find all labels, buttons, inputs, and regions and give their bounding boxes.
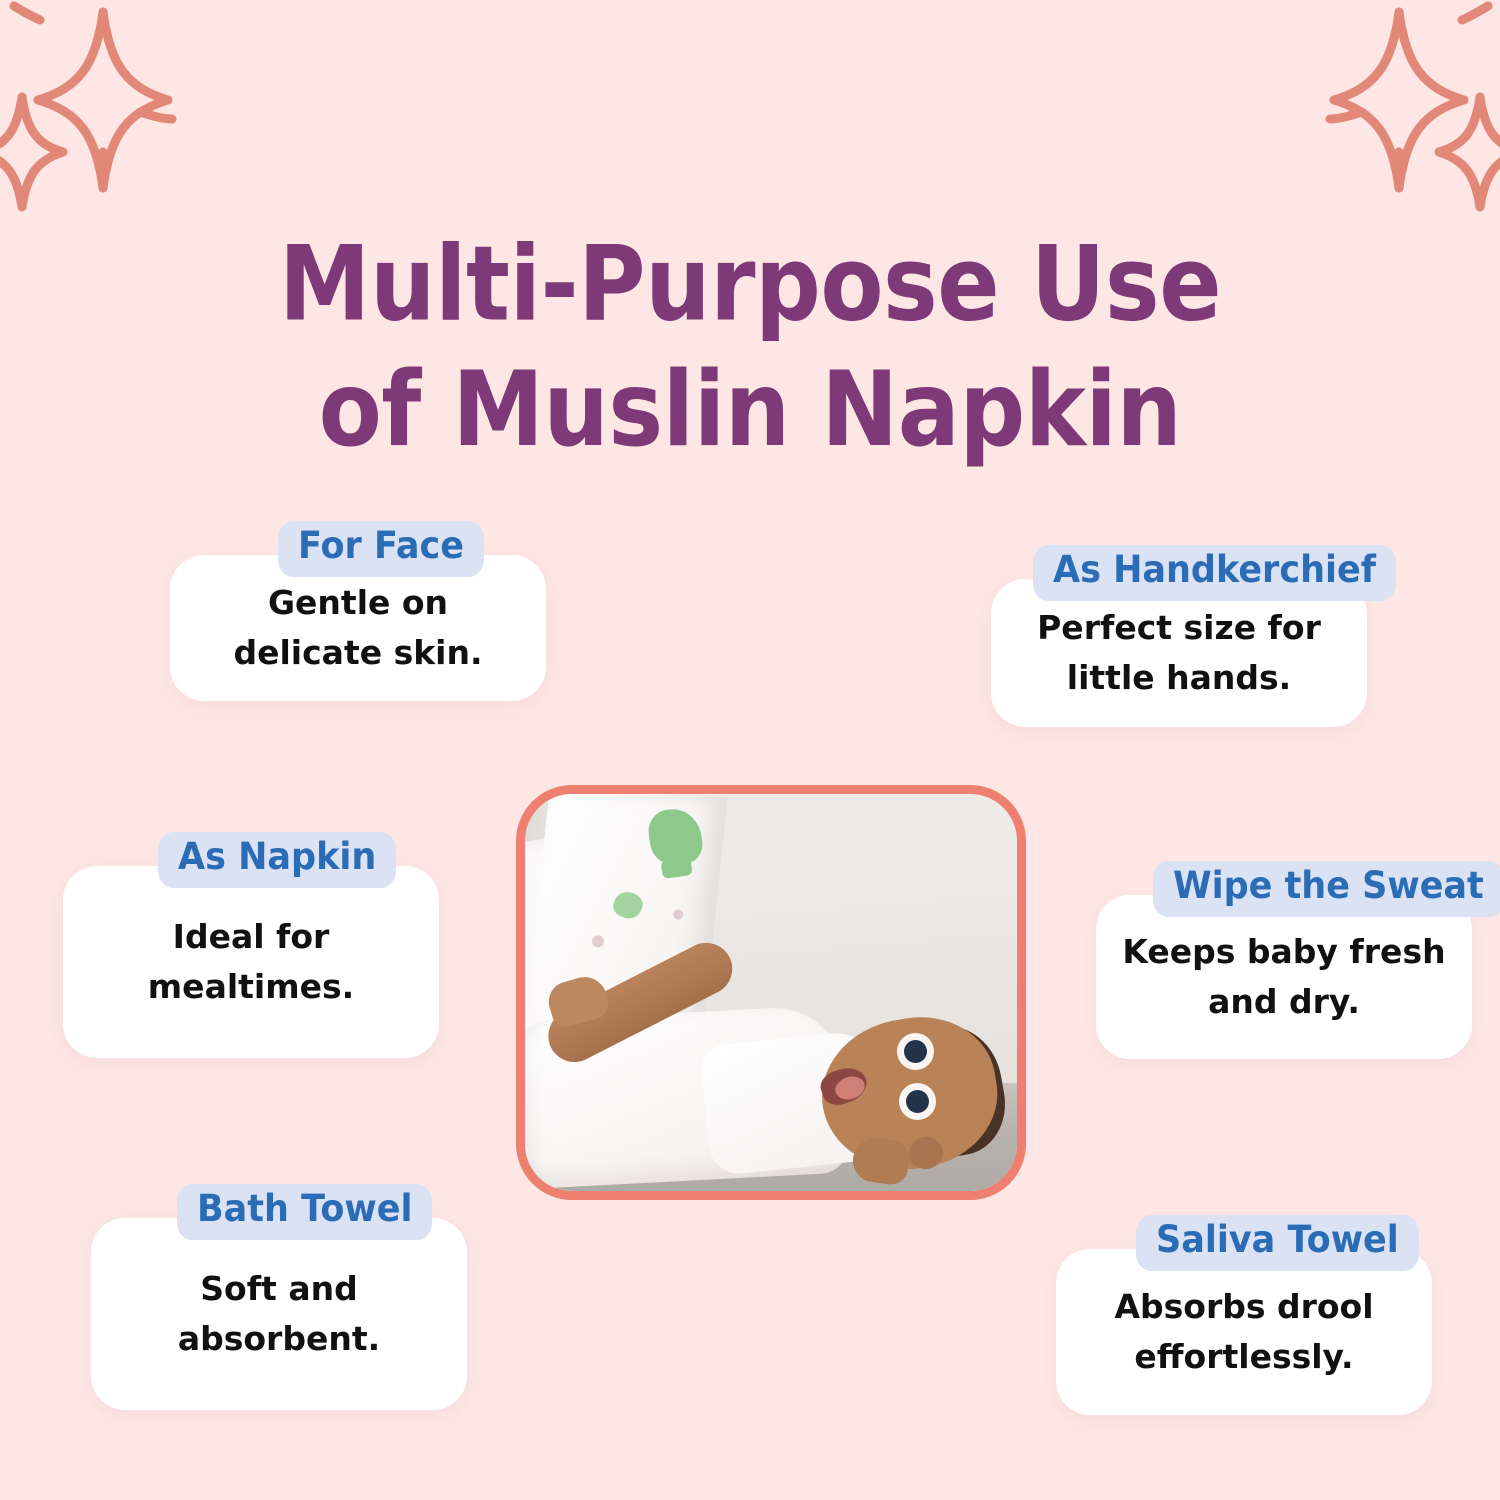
card-text-line-2: mealtimes. — [148, 962, 354, 1012]
feature-card-as-handkerchief: As Handkerchief Perfect size for little … — [991, 545, 1367, 727]
sparkle-stroke-icon — [103, 152, 104, 179]
sparkle-star-icon — [1334, 12, 1464, 188]
card-text-line-1: Absorbs drool — [1114, 1282, 1373, 1332]
sparkle-star-icon — [1439, 97, 1500, 207]
card-text-line-2: delicate skin. — [233, 628, 482, 678]
card-body-as-napkin: Ideal for mealtimes. — [63, 866, 439, 1058]
sparkle-stroke-icon — [1462, 6, 1488, 20]
feature-card-bath-towel: Bath Towel Soft and absorbent. — [91, 1184, 467, 1410]
card-body-as-handkerchief: Perfect size for little hands. — [991, 579, 1367, 727]
product-photo-frame — [516, 785, 1026, 1200]
feature-card-wipe-the-sweat: Wipe the Sweat Keeps baby fresh and dry. — [1096, 861, 1472, 1059]
card-body-wipe-the-sweat: Keeps baby fresh and dry. — [1096, 895, 1472, 1059]
photo-baby-eye — [904, 1040, 927, 1063]
title-line-2: of Muslin Napkin — [0, 347, 1500, 473]
photo-baby-eye — [906, 1090, 929, 1113]
card-text-line-1: Soft and — [200, 1264, 357, 1314]
sparkle-stroke-icon — [1330, 112, 1362, 119]
card-text-line-1: Keeps baby fresh — [1122, 927, 1445, 977]
feature-card-for-face: For Face Gentle on delicate skin. — [170, 521, 546, 701]
card-text-line-1: Ideal for — [173, 912, 330, 962]
card-body-for-face: Gentle on delicate skin. — [170, 555, 546, 701]
card-text-line-2: little hands. — [1067, 653, 1291, 703]
card-text-line-2: effortlessly. — [1134, 1332, 1353, 1382]
title-line-1: Multi-Purpose Use — [0, 222, 1500, 348]
feature-card-saliva-towel: Saliva Towel Absorbs drool effortlessly. — [1056, 1215, 1432, 1415]
card-text-line-1: Perfect size for — [1037, 603, 1321, 653]
sparkle-star-icon — [0, 97, 63, 207]
sparkle-stroke-icon — [14, 6, 40, 20]
infographic-poster: Multi-Purpose Use of Muslin Napkin For F… — [0, 0, 1500, 1500]
photo-print-speck — [591, 935, 604, 948]
sparkle-stroke-icon — [140, 112, 172, 119]
product-photo — [525, 794, 1017, 1191]
page-title: Multi-Purpose Use of Muslin Napkin — [0, 222, 1500, 473]
photo-dinosaur-print-icon — [610, 888, 646, 923]
sparkle-stroke-icon — [1399, 152, 1400, 179]
card-text-line-2: absorbent. — [178, 1314, 380, 1364]
feature-card-as-napkin: As Napkin Ideal for mealtimes. — [63, 832, 439, 1058]
sparkle-star-icon — [38, 12, 168, 188]
card-body-saliva-towel: Absorbs drool effortlessly. — [1056, 1249, 1432, 1415]
photo-print-speck — [673, 909, 684, 920]
photo-dinosaur-print-icon — [646, 805, 705, 868]
card-body-bath-towel: Soft and absorbent. — [91, 1218, 467, 1410]
card-text-line-1: Gentle on — [268, 578, 448, 628]
card-text-line-2: and dry. — [1208, 977, 1360, 1027]
